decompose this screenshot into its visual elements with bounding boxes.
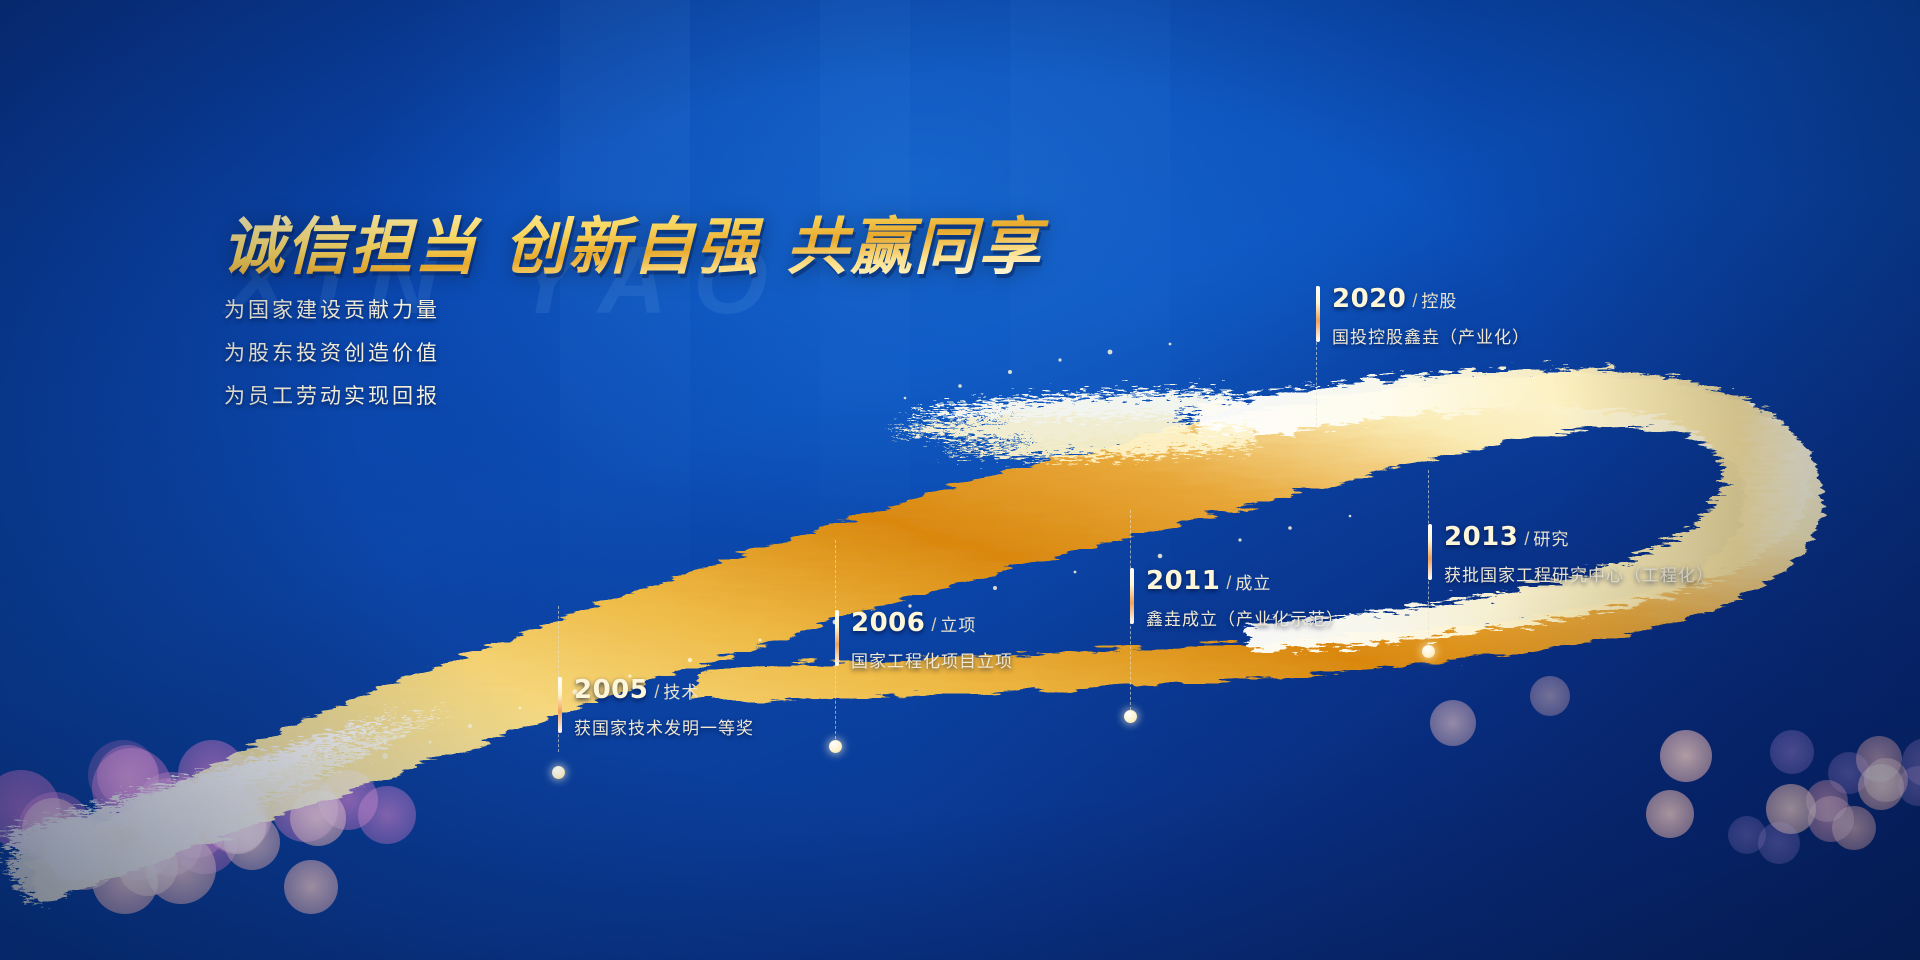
bokeh-circle — [118, 836, 178, 896]
tagline-3: 为员工劳动实现回报 — [224, 380, 440, 410]
bokeh-circle — [46, 820, 106, 880]
milestone-year: 2006 — [851, 608, 925, 638]
headline-part-3: 共赢同享 — [786, 210, 1042, 283]
milestone-description: 获国家技术发明一等奖 — [574, 714, 754, 739]
milestone-separator: / — [654, 682, 659, 703]
milestone-accent-bar — [558, 677, 562, 733]
bokeh-circle — [1902, 738, 1920, 786]
timeline-dot-2006 — [829, 740, 842, 753]
bokeh-circle — [1530, 676, 1570, 716]
bokeh-circle — [224, 814, 280, 870]
vignette-overlay — [0, 0, 1920, 960]
milestone-tag: 立项 — [940, 611, 976, 636]
bokeh-circle — [200, 780, 272, 852]
bokeh-circle — [0, 770, 60, 848]
bokeh-circle — [318, 770, 378, 830]
light-shaft-3 — [1010, 0, 1170, 960]
bokeh-circle — [134, 772, 210, 848]
milestone-accent-bar — [1130, 568, 1134, 624]
bokeh-circle — [210, 798, 266, 854]
bokeh-circle — [172, 808, 238, 874]
milestone-separator: / — [1412, 291, 1417, 312]
milestone-tag: 控股 — [1421, 287, 1457, 312]
bokeh-circle — [168, 800, 226, 858]
bokeh-circle — [1808, 796, 1854, 842]
milestone-description: 获批国家工程研究中心（工程化） — [1444, 561, 1714, 586]
milestone-content: 2006 / 立项 国家工程化项目立项 — [835, 608, 1013, 672]
tagline-1: 为国家建设贡献力量 — [224, 294, 440, 324]
milestone-content: 2011 / 成立 鑫垚成立（产业化示范） — [1130, 566, 1344, 630]
milestone-heading: 2006 / 立项 — [851, 608, 1013, 638]
bokeh-circle — [1430, 700, 1476, 746]
milestone-2020[interactable]: 2020 / 控股 国投控股鑫垚（产业化） — [1316, 284, 1530, 348]
milestone-2005[interactable]: 2005 / 技术 获国家技术发明一等奖 — [558, 675, 754, 739]
bokeh-circle — [88, 740, 158, 810]
milestone-description: 国投控股鑫垚（产业化） — [1332, 323, 1530, 348]
light-shaft-1 — [560, 0, 690, 960]
bokeh-circle — [1898, 766, 1920, 806]
bokeh-circle — [44, 818, 102, 876]
bokeh-circle — [18, 792, 92, 866]
tagline-2: 为股东投资创造价值 — [224, 337, 440, 367]
milestone-description: 鑫垚成立（产业化示范） — [1146, 605, 1344, 630]
milestone-heading: 2005 / 技术 — [574, 675, 754, 705]
timeline-dot-2013 — [1422, 645, 1435, 658]
milestone-accent-bar — [1316, 286, 1320, 342]
milestone-description: 国家工程化项目立项 — [851, 647, 1013, 672]
bokeh-circle — [92, 848, 158, 914]
bokeh-circle — [1660, 730, 1712, 782]
milestone-2011[interactable]: 2011 / 成立 鑫垚成立（产业化示范） — [1130, 566, 1344, 630]
milestone-tag: 研究 — [1533, 525, 1569, 550]
milestone-separator: / — [1524, 529, 1529, 550]
headline-block: XIN YAO 诚信担当创新自强共赢同享 — [222, 196, 1122, 286]
bokeh-circle — [1770, 730, 1814, 774]
bokeh-circle — [272, 776, 338, 842]
milestone-separator: / — [1226, 573, 1231, 594]
timeline-dot-2011 — [1124, 710, 1137, 723]
bokeh-circle — [1728, 816, 1766, 854]
bokeh-circle — [1856, 736, 1902, 782]
bokeh-circle — [97, 745, 159, 807]
timeline-dot-2005 — [552, 766, 565, 779]
milestone-heading: 2011 / 成立 — [1146, 566, 1344, 596]
bokeh-circle — [134, 778, 206, 850]
milestone-heading: 2013 / 研究 — [1444, 522, 1714, 552]
milestone-year: 2020 — [1332, 284, 1406, 314]
page-title: 诚信担当创新自强共赢同享 — [222, 196, 1122, 286]
bokeh-circle — [1858, 764, 1904, 810]
milestone-content: 2005 / 技术 获国家技术发明一等奖 — [558, 675, 754, 739]
milestone-accent-bar — [1428, 524, 1432, 580]
bokeh-circle — [178, 740, 246, 808]
milestone-content: 2020 / 控股 国投控股鑫垚（产业化） — [1316, 284, 1530, 348]
milestone-year: 2005 — [574, 675, 648, 705]
bokeh-circle — [92, 748, 172, 828]
milestone-year: 2011 — [1146, 566, 1220, 596]
milestone-separator: / — [931, 615, 936, 636]
bokeh-circle — [48, 818, 120, 890]
brush-stroke-graphic — [0, 0, 1920, 960]
bokeh-circle — [1758, 822, 1800, 864]
bokeh-circle — [132, 790, 188, 846]
bokeh-circle — [1832, 806, 1876, 850]
milestone-year: 2013 — [1444, 522, 1518, 552]
milestone-2013[interactable]: 2013 / 研究 获批国家工程研究中心（工程化） — [1428, 522, 1714, 586]
milestone-heading: 2020 / 控股 — [1332, 284, 1530, 314]
bokeh-circle — [104, 810, 174, 880]
bokeh-circle — [1766, 784, 1816, 834]
milestone-tag: 技术 — [663, 678, 699, 703]
bokeh-circle — [138, 812, 202, 876]
bokeh-circle — [290, 790, 346, 846]
milestone-content: 2013 / 研究 获批国家工程研究中心（工程化） — [1428, 522, 1714, 586]
milestone-tag: 成立 — [1235, 569, 1271, 594]
bokeh-circle — [1828, 752, 1870, 794]
bokeh-circle — [22, 798, 84, 860]
milestone-accent-bar — [835, 610, 839, 666]
bokeh-circle — [1864, 758, 1908, 802]
bokeh-circle — [358, 786, 416, 844]
light-shaft-2 — [820, 0, 910, 960]
bokeh-circle — [204, 790, 268, 854]
headline-part-1: 诚信担当 — [222, 210, 478, 283]
bokeh-circle — [1646, 790, 1694, 838]
poster-canvas: XIN YAO 诚信担当创新自强共赢同享 为国家建设贡献力量 为股东投资创造价值… — [0, 0, 1920, 960]
bokeh-circle — [284, 860, 338, 914]
bokeh-circle — [1806, 780, 1848, 822]
bokeh-circle — [146, 834, 216, 904]
headline-part-2: 创新自强 — [504, 210, 760, 283]
milestone-2006[interactable]: 2006 / 立项 国家工程化项目立项 — [835, 608, 1013, 672]
